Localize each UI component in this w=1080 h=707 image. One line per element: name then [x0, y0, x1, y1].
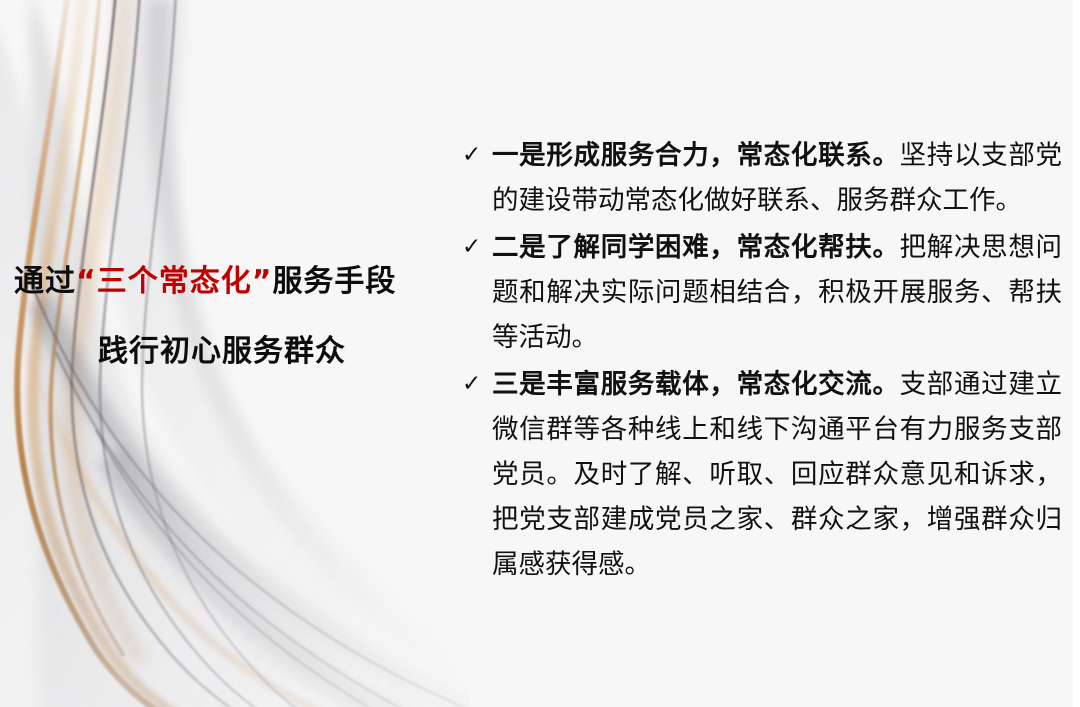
list-item: ✓二是了解同学困难，常态化帮扶。把解决思想问题和解决实际问题相结合，积极开展服务… [462, 225, 1062, 360]
list-item: ✓三是丰富服务载体，常态化交流。支部通过建立微信群等各种线上和线下沟通平台有力服… [462, 362, 1062, 587]
list-item-rest: 支部通过建立微信群等各种线上和线下沟通平台有力服务支部党员。及时了解、听取、回应… [492, 369, 1062, 579]
presentation-slide: 通过“三个常态化”服务手段 践行初心服务群众 ✓一是形成服务合力，常态化联系。坚… [0, 0, 1080, 707]
list-item-lead: 二是了解同学困难，常态化帮扶。 [492, 232, 900, 262]
title-suffix: 服务手段 [272, 264, 396, 299]
checkmark-icon: ✓ [462, 133, 481, 178]
list-item-lead: 一是形成服务合力，常态化联系。 [492, 140, 900, 170]
checkmark-icon: ✓ [462, 225, 481, 270]
slide-edge-strip [1073, 0, 1080, 707]
title-prefix: 通过 [14, 264, 76, 299]
slide-title-block: 通过“三个常态化”服务手段 践行初心服务群众 [0, 262, 455, 372]
title-line-primary: 通过“三个常态化”服务手段 [0, 262, 455, 302]
content-bullet-list: ✓一是形成服务合力，常态化联系。坚持以支部党的建设带动常态化做好联系、服务群众工… [462, 133, 1062, 589]
title-line-secondary: 践行初心服务群众 [0, 332, 455, 372]
title-accent-phrase: “三个常态化” [76, 264, 272, 299]
list-item-lead: 三是丰富服务载体，常态化交流。 [492, 369, 900, 399]
checkmark-icon: ✓ [462, 362, 481, 407]
list-item: ✓一是形成服务合力，常态化联系。坚持以支部党的建设带动常态化做好联系、服务群众工… [462, 133, 1062, 223]
